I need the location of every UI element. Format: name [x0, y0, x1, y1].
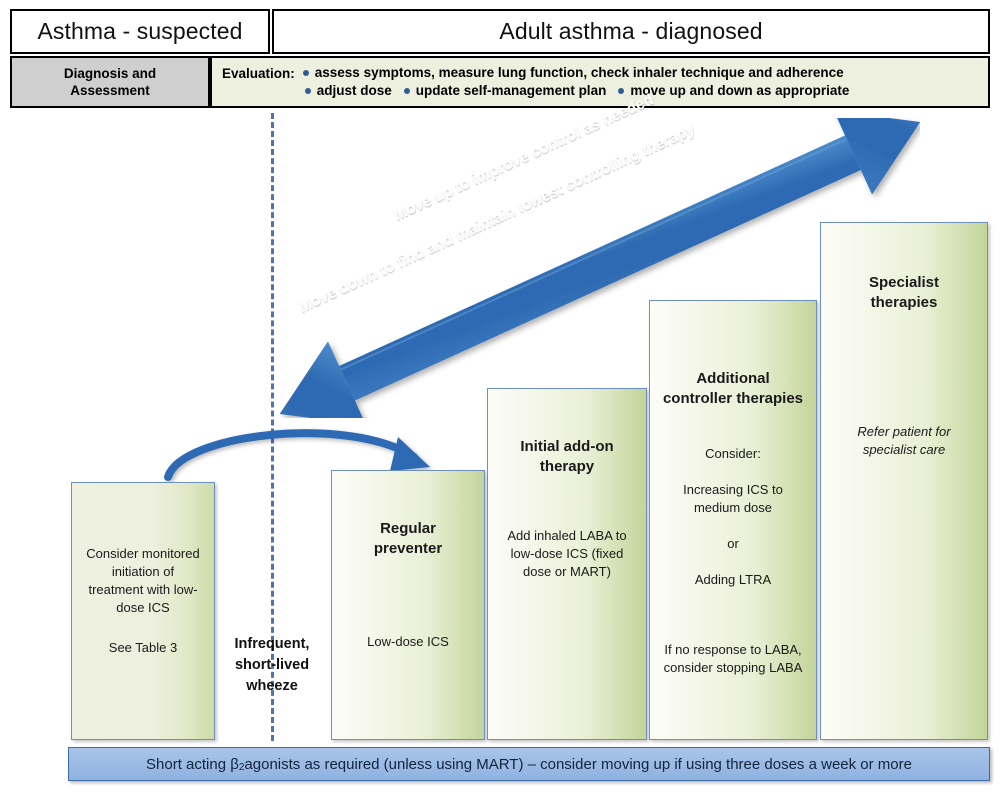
evaluation-line-1: assess symptoms, measure lung function, … [301, 65, 988, 81]
step-box-specialist-therapies[interactable]: Specialist therapies Refer patient for s… [820, 222, 988, 740]
evaluation-label: Evaluation: [222, 65, 295, 81]
step3-title: Initial add-on therapy [500, 437, 634, 477]
step1-see-table: See Table 3 [84, 639, 202, 657]
step4-option-increase-ics: Increasing ICS to medium dose [662, 481, 804, 517]
step2-title-line2: preventer [344, 539, 472, 559]
step4-note-no-response-laba: If no response to LABA, consider stoppin… [662, 641, 804, 677]
header-asthma-suspected: Asthma - suspected [10, 9, 270, 54]
evaluation-item-assess: assess symptoms, measure lung function, … [315, 65, 844, 81]
bottom-bar-subscript: 2 [239, 762, 245, 773]
bullet-dot-icon [305, 88, 311, 94]
step5-body: Refer patient for specialist care [833, 423, 975, 459]
step-box-regular-preventer[interactable]: Regular preventer Low-dose ICS [331, 470, 485, 740]
step3-body: Add inhaled LABA to low-dose ICS (fixed … [500, 527, 634, 581]
arrow-label-move-down: Move down to find and maintain lowest co… [296, 121, 698, 317]
label-infrequent-short-lived-wheeze: Infrequent, short-lived wheeze [217, 634, 327, 697]
step4-option-adding-ltra: Adding LTRA [662, 571, 804, 589]
header-adult-asthma-diagnosed-label: Adult asthma - diagnosed [499, 18, 762, 45]
wheeze-line3: wheeze [217, 676, 327, 697]
header-diagnosis-and-assessment: Diagnosis and Assessment [10, 56, 210, 108]
step-box-initial-add-on-therapy[interactable]: Initial add-on therapy Add inhaled LABA … [487, 388, 647, 740]
step4-title-line1: Additional [662, 369, 804, 389]
bullet-dot-icon [618, 88, 624, 94]
bullet-dot-icon [404, 88, 410, 94]
wheeze-line2: short-lived [217, 655, 327, 676]
step4-option-separator-or: or [662, 535, 804, 553]
step5-title: Specialist therapies [833, 273, 975, 313]
header-evaluation-panel: Evaluation: assess symptoms, measure lun… [210, 56, 990, 108]
bullet-dot-icon [303, 70, 309, 76]
step1-body: Consider monitored initiation of treatme… [84, 545, 202, 617]
header-asthma-suspected-label: Asthma - suspected [37, 18, 242, 45]
bottom-bar-text-before: Short acting β [146, 756, 239, 773]
step-box-consider-monitored-initiation[interactable]: Consider monitored initiation of treatme… [71, 482, 215, 740]
bottom-bar-short-acting-beta2-agonists: Short acting β2agonists as required (unl… [68, 747, 990, 781]
step5-title-line1: Specialist [833, 273, 975, 293]
bottom-bar-text-after: agonists as required (unless using MART)… [244, 756, 912, 773]
step3-title-line2: therapy [500, 457, 634, 477]
step4-title: Additional controller therapies [662, 369, 804, 409]
step3-title-line1: Initial add-on [500, 437, 634, 457]
evaluation-item-update-plan: update self-management plan [416, 83, 607, 99]
evaluation-item-move-updown: move up and down as appropriate [630, 83, 849, 99]
asthma-treatment-pathway-diagram: Asthma - suspected Adult asthma - diagno… [0, 0, 1000, 793]
evaluation-item-adjust-dose: adjust dose [317, 83, 392, 99]
step2-title: Regular preventer [344, 519, 472, 559]
step2-body: Low-dose ICS [344, 633, 472, 651]
diagnosis-assessment-line1: Diagnosis and [64, 65, 156, 82]
step5-title-line2: therapies [833, 293, 975, 313]
step4-consider-label: Consider: [662, 445, 804, 463]
step4-title-line2: controller therapies [662, 389, 804, 409]
diagnosis-assessment-line2: Assessment [64, 82, 156, 99]
header-adult-asthma-diagnosed: Adult asthma - diagnosed [272, 9, 990, 54]
step2-title-line1: Regular [344, 519, 472, 539]
step-box-additional-controller-therapies[interactable]: Additional controller therapies Consider… [649, 300, 817, 740]
wheeze-line1: Infrequent, [217, 634, 327, 655]
